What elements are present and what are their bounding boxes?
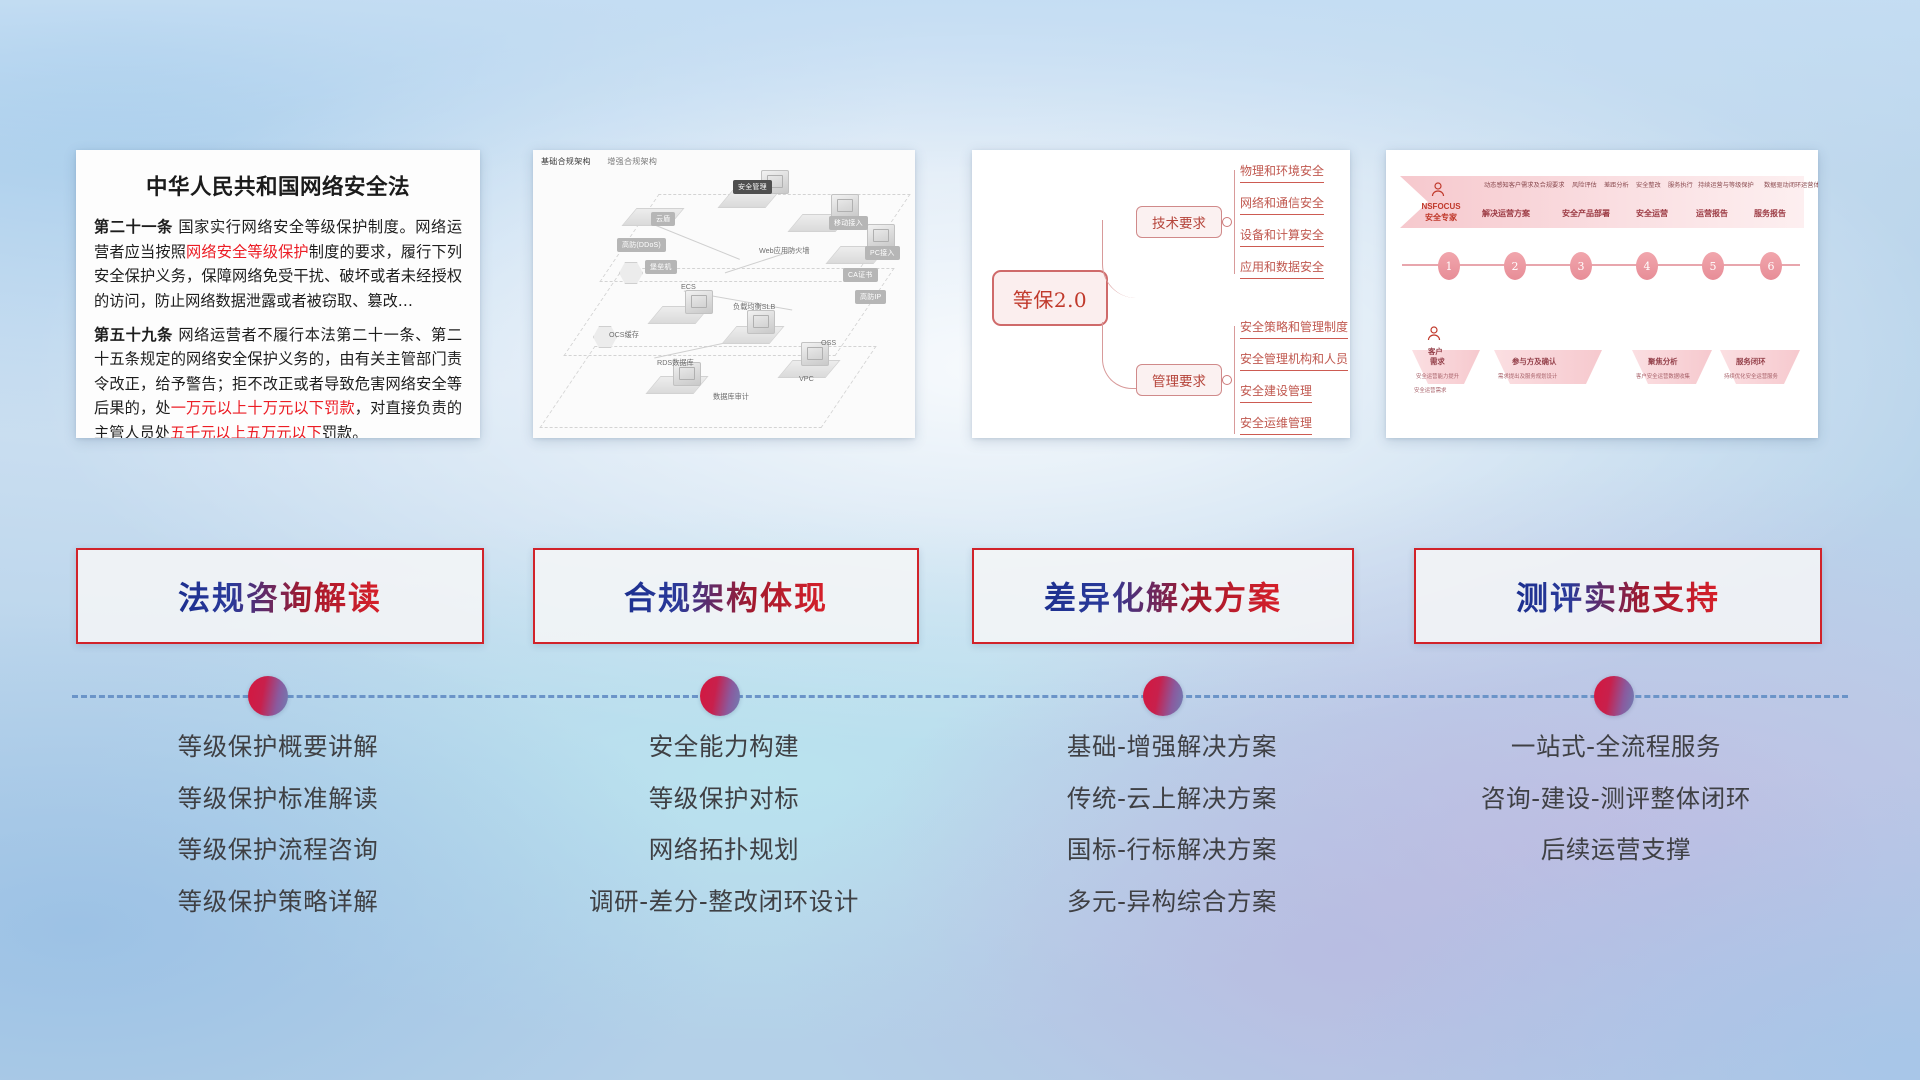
arch-label-bastion: 堡垒机 [645, 260, 677, 274]
arch-label-ocs: OCS缓存 [609, 330, 639, 340]
arch-label-vpc: VPC [799, 374, 814, 383]
heading-box-assessment-support[interactable]: 测评实施支持 [1414, 548, 1822, 644]
article-59-highlight-1: 一万元以上十万元以下罚款 [171, 399, 355, 417]
process-top-label-2: 差距分析 [1604, 180, 1629, 189]
list-item: 传统-云上解决方案 [972, 787, 1372, 812]
process-bottom-sub-label-1: 需求提出及服务规划设计 [1498, 372, 1557, 380]
heading-box-differentiated-solution[interactable]: 差异化解决方案 [972, 548, 1354, 644]
timeline-dot-4[interactable] [1594, 676, 1634, 716]
detail-list-row: 等级保护概要讲解 等级保护标准解读 等级保护流程咨询 等级保护策略详解 安全能力… [0, 735, 1920, 965]
process-mid-label-3: 运营报告 [1696, 208, 1728, 219]
process-bottom-sub-label-3: 持续优化安全运营服务 [1724, 372, 1778, 380]
mindmap-curve-to-mgmt [1102, 322, 1139, 389]
arch-node-icon-4 [685, 290, 713, 314]
timeline-dashed-line [72, 695, 1848, 698]
arch-label-mobile: 移动接入 [829, 216, 868, 230]
heading-box-regulation-consulting[interactable]: 法规咨询解读 [76, 548, 484, 644]
process-bottom-label-3: 服务闭环 [1736, 356, 1766, 367]
arch-label-ddos: 高防(DDoS) [617, 238, 666, 252]
list-item: 调研-差分-整改闭环设计 [506, 890, 942, 915]
heading-label-0: 法规咨询解读 [178, 573, 382, 619]
arch-label-ecs: ECS [681, 282, 696, 291]
process-top-label-4: 服务执行 [1668, 180, 1693, 189]
mindmap-branch-management: 管理要求 [1136, 364, 1222, 396]
card-cybersecurity-law: 中华人民共和国网络安全法 第二十一条 国家实行网络安全等级保护制度。网络运营者应… [76, 150, 480, 438]
process-top-label-5: 持续运营与等级保护 [1698, 180, 1754, 189]
tab-enhanced-architecture: 增强合规架构 [607, 157, 657, 166]
article-59-label: 第五十九条 [94, 326, 173, 344]
mindmap-leaf-tech-1: 网络和通信安全 [1240, 194, 1324, 215]
arch-node-icon-2 [831, 194, 859, 218]
arch-label-ca: CA证书 [843, 268, 878, 282]
process-mid-label-2: 安全运营 [1636, 208, 1668, 219]
mindmap-leaf-tech-0: 物理和环境安全 [1240, 162, 1324, 183]
customer-person-icon [1426, 326, 1442, 342]
list-item: 基础-增强解决方案 [972, 735, 1372, 760]
arch-node-icon-3 [867, 224, 895, 248]
mindmap-leaf-mgmt-1: 安全管理机构和人员 [1240, 350, 1348, 371]
article-21-label: 第二十一条 [94, 218, 173, 236]
list-item: 等级保护策略详解 [76, 890, 480, 915]
heading-label-3: 测评实施支持 [1516, 573, 1720, 619]
heading-box-compliance-architecture[interactable]: 合规架构体现 [533, 548, 919, 644]
list-item: 网络拓扑规划 [506, 838, 942, 863]
list-item: 等级保护概要讲解 [76, 735, 480, 760]
process-bottom-label-0: 需求 [1430, 356, 1445, 367]
process-bottom-label-1: 参与方及确认 [1512, 356, 1556, 367]
timeline-dot-1[interactable] [248, 676, 288, 716]
list-item: 安全能力构建 [506, 735, 942, 760]
process-step-6: 6 [1760, 252, 1782, 280]
mindmap-leaf-mgmt-3: 安全运维管理 [1240, 414, 1312, 435]
mindmap-branch-technical: 技术要求 [1136, 206, 1222, 238]
process-customer-label: 客户 [1428, 346, 1443, 357]
process-mid-label-1: 安全产品部署 [1562, 208, 1610, 219]
mindmap-spine-technical [1234, 170, 1235, 274]
reference-card-row: 中华人民共和国网络安全法 第二十一条 国家实行网络安全等级保护制度。网络运营者应… [0, 150, 1920, 440]
article-21-highlight: 网络安全等级保护 [186, 243, 309, 261]
mindmap-collapse-dot-management [1222, 375, 1232, 385]
arch-label-pc: PC接入 [865, 246, 900, 260]
architecture-diagram: 基础合规架构 增强合规架构 [533, 150, 915, 438]
card-compliance-architecture: 基础合规架构 增强合规架构 [533, 150, 915, 438]
brand-block: NSFOCUS 安全专家 [1412, 202, 1470, 224]
list-item: 咨询-建设-测评整体闭环 [1400, 787, 1832, 812]
arch-label-waf: Web应用防火墙 [759, 246, 810, 256]
arch-label-oss: OSS [821, 338, 836, 347]
heading-label-2: 差异化解决方案 [1044, 573, 1282, 619]
arch-label-slb: 负载均衡SLB [733, 302, 775, 312]
process-customer-sub-label: 安全运营需求 [1414, 386, 1446, 394]
process-step-5: 5 [1702, 252, 1724, 280]
detail-list-regulation-consulting: 等级保护概要讲解 等级保护标准解读 等级保护流程咨询 等级保护策略详解 [76, 735, 480, 941]
timeline-dot-2[interactable] [700, 676, 740, 716]
process-bottom-sub-label-0: 安全运营能力提升 [1416, 372, 1459, 380]
law-title: 中华人民共和国网络安全法 [94, 170, 462, 201]
process-step-3: 3 [1570, 252, 1592, 280]
brand-name: NSFOCUS [1412, 202, 1470, 213]
process-step-2: 2 [1504, 252, 1526, 280]
list-item: 多元-异构综合方案 [972, 890, 1372, 915]
detail-list-compliance-architecture: 安全能力构建 等级保护对标 网络拓扑规划 调研-差分-整改闭环设计 [506, 735, 942, 941]
process-mid-label-0: 解决运营方案 [1482, 208, 1530, 219]
mindmap: 等保2.0 技术要求 物理和环境安全 网络和通信安全 设备和计算安全 应用和数据… [972, 150, 1350, 438]
process-top-label-0: 动态感知客户需求及合规要求 [1484, 180, 1564, 189]
mindmap-leaf-tech-2: 设备和计算安全 [1240, 226, 1324, 247]
timeline [0, 672, 1920, 720]
detail-list-assessment-support: 一站式-全流程服务 咨询-建设-测评整体闭环 后续运营支撑 [1400, 735, 1832, 890]
section-heading-row: 法规咨询解读 合规架构体现 差异化解决方案 测评实施支持 [0, 548, 1920, 648]
list-item: 等级保护流程咨询 [76, 838, 480, 863]
process-top-label-6: 数据驱动闭环运营体系化建设 [1764, 180, 1818, 189]
brand-subtitle: 安全专家 [1412, 213, 1470, 224]
list-item: 一站式-全流程服务 [1400, 735, 1832, 760]
arch-node-icon-5 [747, 310, 775, 334]
law-document: 中华人民共和国网络安全法 第二十一条 国家实行网络安全等级保护制度。网络运营者应… [76, 150, 480, 438]
article-59-text-3: 罚款。 [322, 424, 368, 438]
timeline-dot-3[interactable] [1143, 676, 1183, 716]
process-bottom-label-2: 聚焦分析 [1648, 356, 1678, 367]
heading-label-1: 合规架构体现 [624, 573, 828, 619]
process-bottom-sub-label-2: 客户安全运营数据收集 [1636, 372, 1690, 380]
article-59-highlight-2: 五千元以上五万元以下 [170, 424, 322, 438]
tab-basic-architecture: 基础合规架构 [541, 157, 591, 166]
process-mid-label-4: 服务报告 [1754, 208, 1786, 219]
law-article-59: 第五十九条 网络运营者不履行本法第二十一条、第二十五条规定的网络安全保护义务的，… [94, 323, 462, 439]
process-top-label-3: 安全整改 [1636, 180, 1661, 189]
process-diagram: NSFOCUS 安全专家 动态感知客户需求及合规要求 风险评估 差距分析 安全整… [1386, 150, 1818, 438]
mindmap-spine-management [1234, 326, 1235, 434]
arch-label-security-group: 安全管理 [733, 180, 772, 194]
law-article-21: 第二十一条 国家实行网络安全等级保护制度。网络运营者应当按照网络安全等级保护制度… [94, 215, 462, 314]
process-step-4: 4 [1636, 252, 1658, 280]
list-item: 等级保护标准解读 [76, 787, 480, 812]
expert-person-icon [1430, 182, 1446, 198]
mindmap-root-node: 等保2.0 [992, 270, 1108, 326]
arch-label-antiddos: 高防IP [855, 290, 886, 304]
mindmap-leaf-mgmt-0: 安全策略和管理制度 [1240, 318, 1348, 339]
list-item: 国标-行标解决方案 [972, 838, 1372, 863]
process-step-1: 1 [1438, 252, 1460, 280]
arch-label-db-audit: 数据库审计 [713, 392, 749, 402]
mindmap-leaf-tech-3: 应用和数据安全 [1240, 258, 1324, 279]
card-nsfocus-process: NSFOCUS 安全专家 动态感知客户需求及合规要求 风险评估 差距分析 安全整… [1386, 150, 1818, 438]
mindmap-collapse-dot-technical [1222, 217, 1232, 227]
process-axis-line [1402, 264, 1800, 266]
mindmap-leaf-mgmt-2: 安全建设管理 [1240, 382, 1312, 403]
list-item: 等级保护对标 [506, 787, 942, 812]
detail-list-differentiated-solution: 基础-增强解决方案 传统-云上解决方案 国标-行标解决方案 多元-异构综合方案 [972, 735, 1372, 941]
list-item: 后续运营支撑 [1400, 838, 1832, 863]
arch-label-yun-dun: 云盾 [651, 212, 675, 226]
arch-label-rds: RDS数据库 [657, 358, 694, 368]
card-mindmap-dengbao: 等保2.0 技术要求 物理和环境安全 网络和通信安全 设备和计算安全 应用和数据… [972, 150, 1350, 438]
process-top-label-1: 风险评估 [1572, 180, 1597, 189]
architecture-tabs: 基础合规架构 增强合规架构 [541, 156, 671, 167]
